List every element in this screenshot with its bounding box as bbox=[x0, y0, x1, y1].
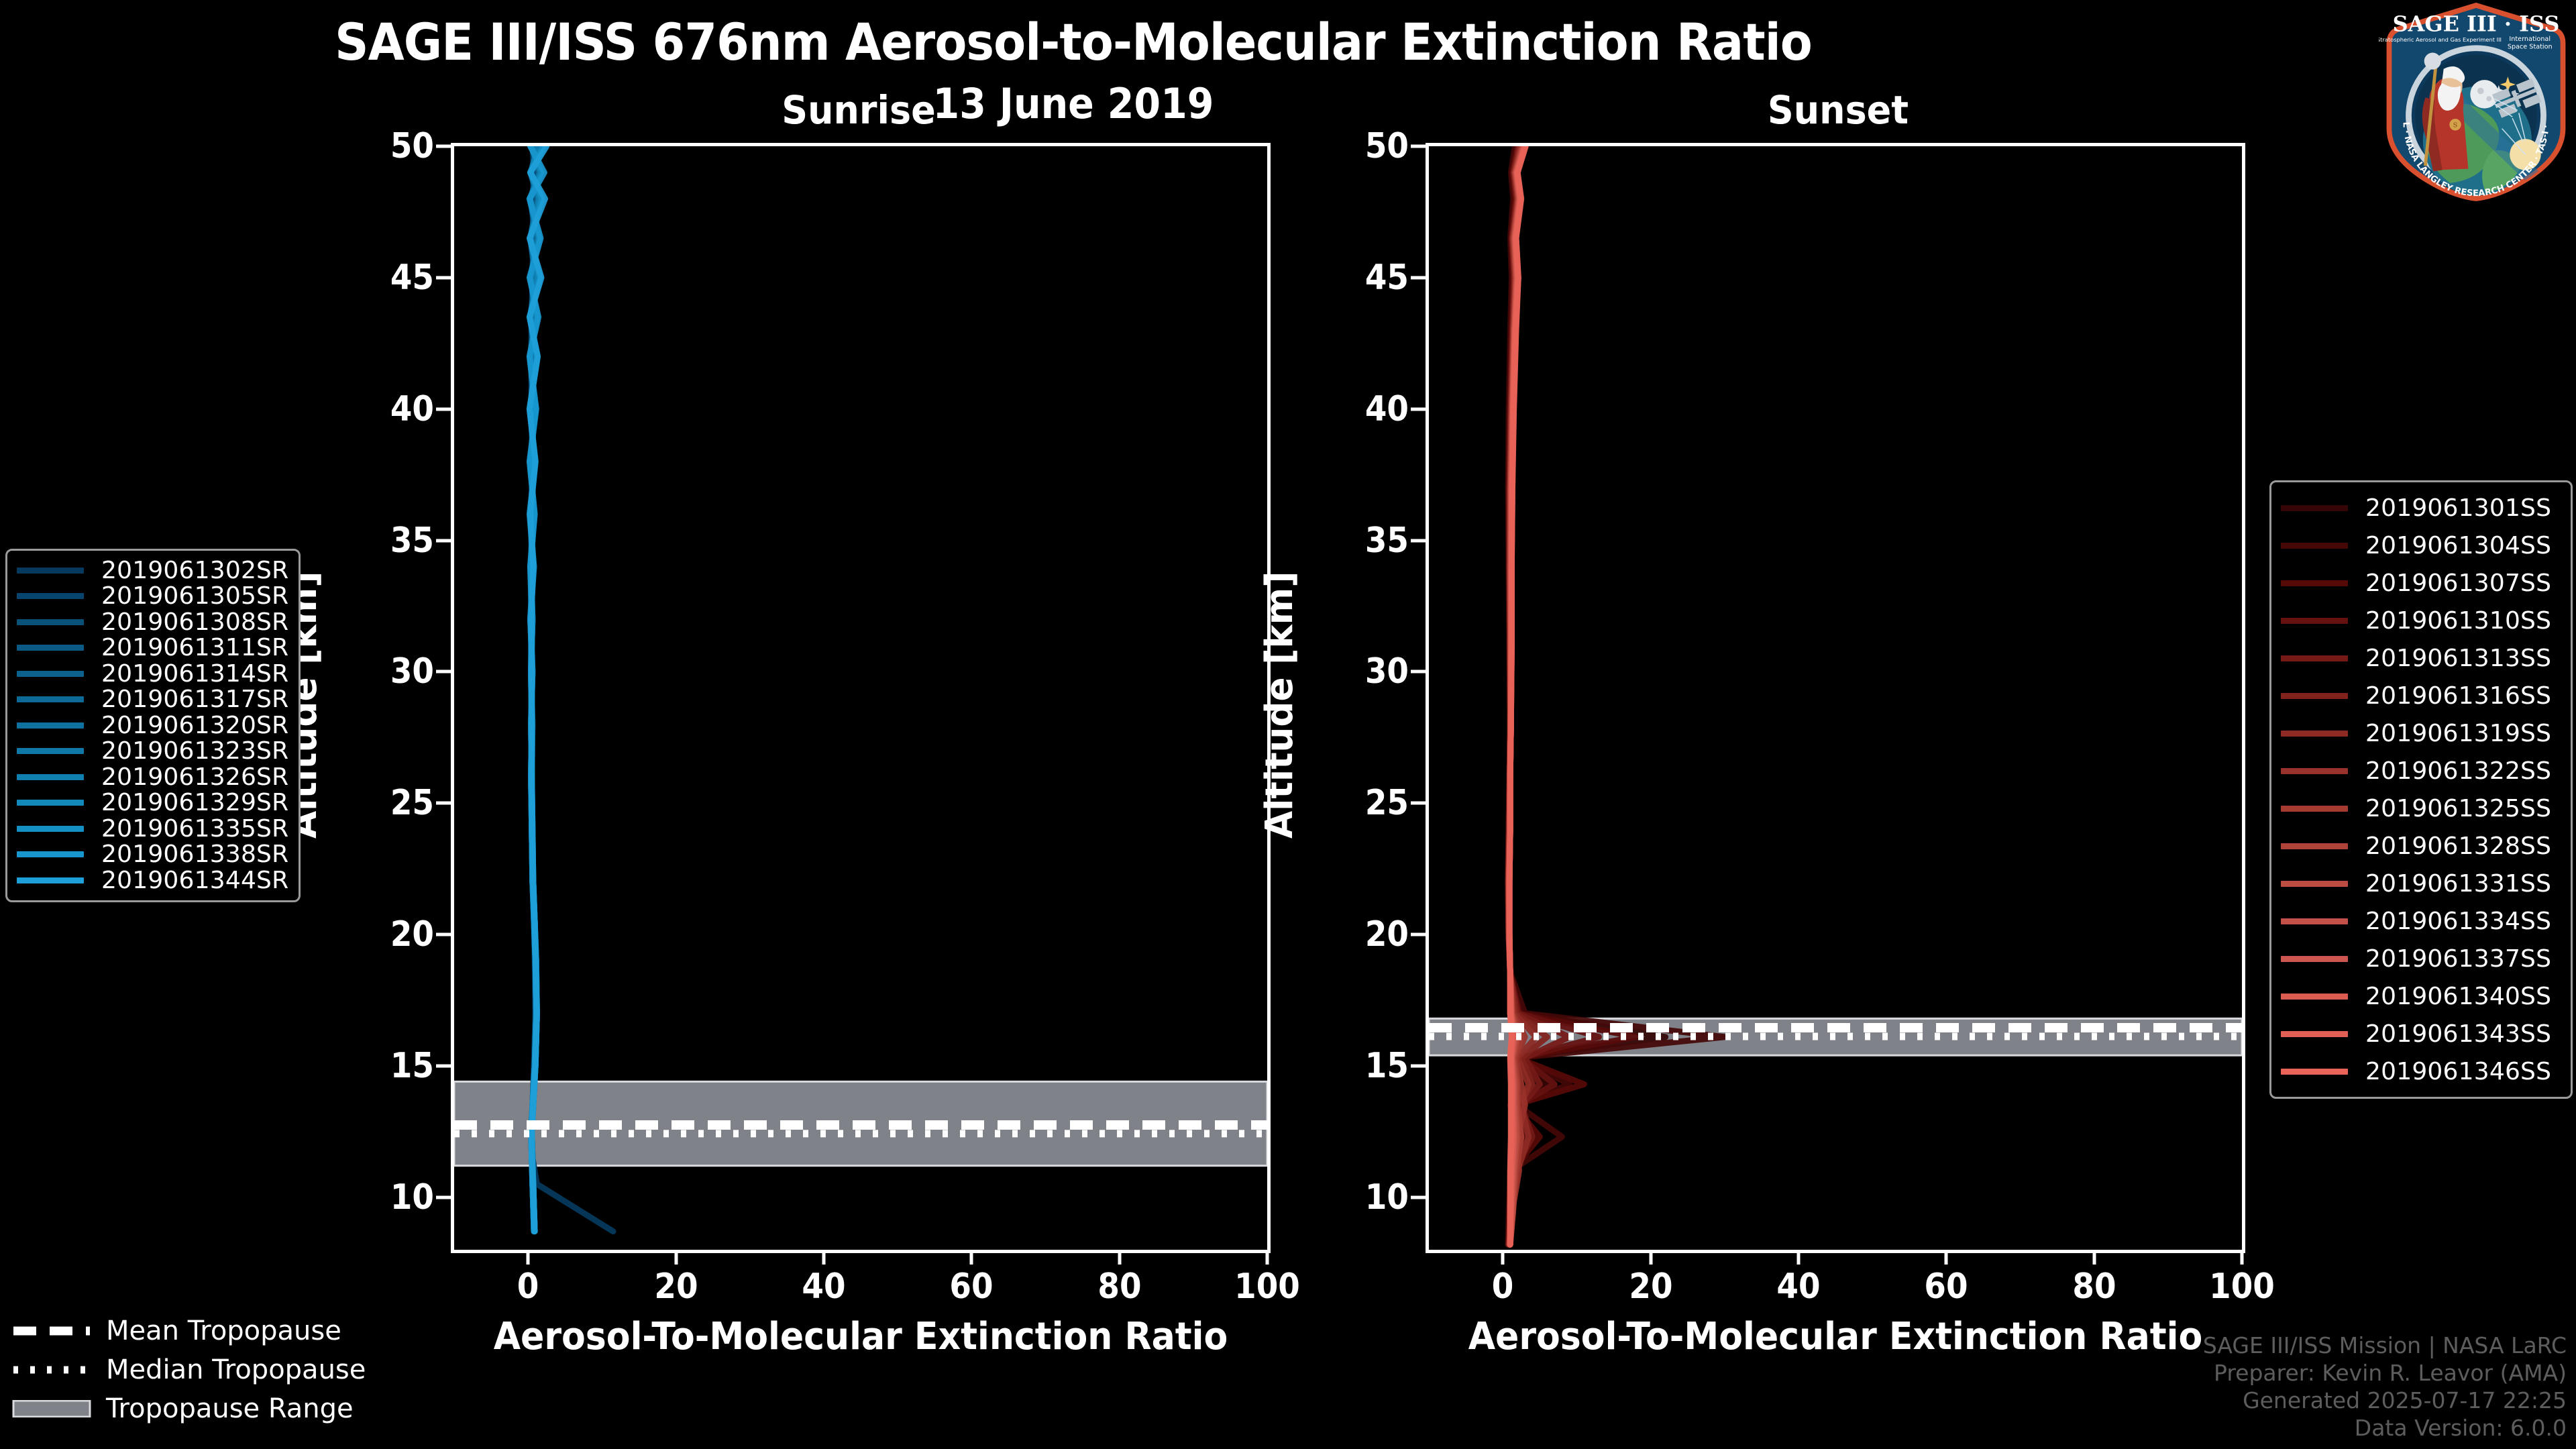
x-axis-label-sunset: Aerosol-To-Molecular Extinction Ratio bbox=[1454, 1315, 2216, 1358]
legend-tropopause: Mean TropopauseMedian TropopauseTropopau… bbox=[12, 1311, 388, 1428]
legend-color-swatch bbox=[17, 671, 84, 677]
y-axis-label-sunset: Altitude [km] bbox=[1258, 571, 1301, 839]
footer-line-version: Data Version: 6.0.0 bbox=[2203, 1415, 2567, 1442]
legend-item-label: 2019061313SS bbox=[2365, 645, 2551, 672]
legend-color-swatch bbox=[2281, 918, 2348, 924]
legend-item-label: 2019061314SR bbox=[101, 660, 288, 688]
tropopause-legend-label: Median Tropopause bbox=[106, 1354, 366, 1385]
legend-item-label: 2019061310SS bbox=[2365, 607, 2551, 635]
tropopause-legend-item: Median Tropopause bbox=[12, 1350, 388, 1389]
legend-sunset-item[interactable]: 2019061316SS bbox=[2281, 677, 2561, 714]
legend-color-swatch bbox=[2281, 768, 2348, 774]
legend-item-label: 2019061305SR bbox=[101, 582, 288, 610]
x-axis-tick-label: 40 bbox=[766, 1267, 881, 1307]
x-axis-tick-mark bbox=[1649, 1250, 1652, 1265]
x-axis-tick-label: 40 bbox=[1741, 1267, 1856, 1307]
y-axis-tick-mark bbox=[436, 145, 451, 148]
y-axis-tick-label: 25 bbox=[343, 783, 434, 823]
legend-color-swatch bbox=[2281, 994, 2348, 1000]
legend-color-swatch bbox=[2281, 1069, 2348, 1075]
legend-color-swatch bbox=[2281, 731, 2348, 737]
legend-color-swatch bbox=[17, 826, 84, 832]
tropopause-legend-label: Mean Tropopause bbox=[106, 1316, 341, 1346]
y-axis-tick-mark bbox=[1411, 407, 1426, 411]
y-axis-tick-label: 15 bbox=[343, 1046, 434, 1086]
y-axis-tick-mark bbox=[1411, 933, 1426, 936]
y-axis-tick-label: 35 bbox=[1318, 521, 1409, 561]
x-axis-tick-mark bbox=[1118, 1250, 1121, 1265]
y-axis-tick-label: 35 bbox=[343, 521, 434, 561]
legend-color-swatch bbox=[2281, 806, 2348, 812]
y-axis-tick-label: 40 bbox=[1318, 389, 1409, 429]
legend-color-swatch bbox=[2281, 1031, 2348, 1037]
x-axis-tick-label: 60 bbox=[914, 1267, 1029, 1307]
logo-title: SAGE III · ISS bbox=[2393, 11, 2560, 37]
legend-item-label: 2019061335SR bbox=[101, 815, 288, 843]
legend-item-label: 2019061344SR bbox=[101, 867, 288, 894]
x-axis-tick-label: 60 bbox=[1889, 1267, 2004, 1307]
legend-sunset-item[interactable]: 2019061340SS bbox=[2281, 977, 2561, 1015]
y-axis-tick-mark bbox=[436, 933, 451, 936]
x-axis-tick-mark bbox=[674, 1250, 678, 1265]
footer-credits: SAGE III/ISS Mission | NASA LaRC Prepare… bbox=[2203, 1332, 2567, 1442]
plot-canvas-sunrise bbox=[454, 146, 1267, 1250]
legend-sunrise-item[interactable]: 2019061326SR bbox=[17, 764, 289, 790]
legend-color-swatch bbox=[17, 593, 84, 599]
legend-sunrise-item[interactable]: 2019061344SR bbox=[17, 867, 289, 894]
legend-color-swatch bbox=[17, 774, 84, 780]
legend-item-label: 2019061328SS bbox=[2365, 833, 2551, 860]
y-axis-tick-label: 15 bbox=[1318, 1046, 1409, 1086]
x-axis-tick-mark bbox=[1266, 1250, 1269, 1265]
legend-sunrise-item[interactable]: 2019061317SR bbox=[17, 687, 289, 713]
x-axis-tick-mark bbox=[2092, 1250, 2096, 1265]
y-axis-tick-mark bbox=[436, 407, 451, 411]
x-axis-tick-label: 0 bbox=[471, 1267, 586, 1307]
x-axis-tick-mark bbox=[2241, 1250, 2244, 1265]
legend-item-label: 2019061338SR bbox=[101, 841, 288, 868]
legend-item-label: 2019061326SR bbox=[101, 763, 288, 791]
y-axis-tick-mark bbox=[1411, 145, 1426, 148]
legend-sunset-item[interactable]: 2019061346SS bbox=[2281, 1053, 2561, 1090]
page-title: SAGE III/ISS 676nm Aerosol-to-Molecular … bbox=[86, 12, 2061, 72]
y-axis-tick-label: 10 bbox=[1318, 1177, 1409, 1218]
y-axis-tick-mark bbox=[436, 539, 451, 542]
legend-color-swatch bbox=[2281, 580, 2348, 586]
legend-color-swatch bbox=[2281, 693, 2348, 699]
legend-item-label: 2019061301SS bbox=[2365, 494, 2551, 522]
y-axis-tick-label: 20 bbox=[1318, 914, 1409, 955]
footer-line-mission: SAGE III/ISS Mission | NASA LaRC bbox=[2203, 1332, 2567, 1360]
legend-item-label: 2019061311SR bbox=[101, 634, 288, 661]
y-axis-tick-label: 50 bbox=[1318, 126, 1409, 166]
legend-item-label: 2019061322SS bbox=[2365, 757, 2551, 785]
legend-sunset-item[interactable]: 2019061319SS bbox=[2281, 714, 2561, 752]
legend-color-swatch bbox=[17, 568, 84, 574]
legend-sunset-item[interactable]: 2019061322SS bbox=[2281, 752, 2561, 790]
x-axis-label-sunrise: Aerosol-To-Molecular Extinction Ratio bbox=[480, 1315, 1242, 1358]
footer-line-generated: Generated 2025-07-17 22:25 bbox=[2203, 1387, 2567, 1415]
legend-color-swatch bbox=[2281, 881, 2348, 887]
y-axis-tick-mark bbox=[1411, 802, 1426, 805]
tropopause-legend-item: Tropopause Range bbox=[12, 1389, 388, 1428]
legend-item-label: 2019061323SR bbox=[101, 737, 288, 765]
x-axis-tick-label: 20 bbox=[1593, 1267, 1708, 1307]
y-axis-tick-label: 25 bbox=[1318, 783, 1409, 823]
y-axis-tick-label: 40 bbox=[343, 389, 434, 429]
legend-item-label: 2019061320SR bbox=[101, 712, 288, 739]
x-axis-tick-mark bbox=[970, 1250, 973, 1265]
x-axis-tick-label: 20 bbox=[619, 1267, 733, 1307]
legend-color-swatch bbox=[2281, 956, 2348, 962]
legend-sunrise-item[interactable]: 2019061311SR bbox=[17, 635, 289, 661]
legend-item-label: 2019061316SS bbox=[2365, 682, 2551, 710]
dotted-line-icon bbox=[12, 1361, 91, 1379]
legend-item-label: 2019061325SS bbox=[2365, 795, 2551, 822]
legend-sunrise-item[interactable]: 2019061320SR bbox=[17, 712, 289, 739]
legend-sunset-item[interactable]: 2019061307SS bbox=[2281, 564, 2561, 602]
footer-line-preparer: Preparer: Kevin R. Leavor (AMA) bbox=[2203, 1360, 2567, 1387]
legend-item-label: 2019061308SR bbox=[101, 608, 288, 636]
legend-sunset-item[interactable]: 2019061304SS bbox=[2281, 527, 2561, 564]
x-axis-tick-mark bbox=[1796, 1250, 1800, 1265]
moon-crater bbox=[2477, 88, 2484, 95]
sage-iii-iss-mission-patch-logo: S SAGE III · ISS Stratospheric Aerosol a… bbox=[2379, 1, 2573, 203]
legend-sunrise[interactable]: 2019061302SR2019061305SR2019061308SR2019… bbox=[5, 549, 301, 902]
legend-color-swatch bbox=[17, 748, 84, 754]
legend-item-label: 2019061337SS bbox=[2365, 945, 2551, 973]
filled-band-icon bbox=[12, 1400, 91, 1417]
legend-item-label: 2019061334SS bbox=[2365, 908, 2551, 935]
y-axis-tick-mark bbox=[1411, 1195, 1426, 1199]
legend-color-swatch bbox=[2281, 655, 2348, 661]
panel-title-sunset: Sunset bbox=[1664, 87, 2013, 133]
legend-item-label: 2019061329SR bbox=[101, 789, 288, 816]
legend-item-label: 2019061302SR bbox=[101, 557, 288, 584]
x-axis-tick-label: 100 bbox=[2185, 1267, 2300, 1307]
plot-panel-sunset bbox=[1426, 143, 2245, 1253]
legend-item-label: 2019061346SS bbox=[2365, 1058, 2551, 1085]
legend-item-label: 2019061319SS bbox=[2365, 720, 2551, 747]
legend-sunrise-item[interactable]: 2019061302SR bbox=[17, 557, 289, 584]
legend-sunset-item[interactable]: 2019061313SS bbox=[2281, 639, 2561, 677]
y-axis-tick-mark bbox=[436, 276, 451, 279]
legend-sunrise-item[interactable]: 2019061335SR bbox=[17, 816, 289, 842]
tropopause-legend-label: Tropopause Range bbox=[106, 1393, 354, 1424]
x-axis-tick-label: 100 bbox=[1210, 1267, 1325, 1307]
y-axis-tick-mark bbox=[436, 1064, 451, 1067]
legend-color-swatch bbox=[17, 645, 84, 651]
y-axis-tick-label: 50 bbox=[343, 126, 434, 166]
legend-color-swatch bbox=[2281, 505, 2348, 511]
legend-color-swatch bbox=[17, 696, 84, 702]
logo-subtitle-left: Stratospheric Aerosol and Gas Experiment… bbox=[2379, 36, 2502, 43]
tropopause-legend-item: Mean Tropopause bbox=[12, 1311, 388, 1350]
y-axis-tick-mark bbox=[1411, 1064, 1426, 1067]
panel-title-sunrise: Sunrise bbox=[684, 87, 1034, 133]
y-axis-tick-mark bbox=[436, 670, 451, 674]
legend-color-swatch bbox=[2281, 543, 2348, 549]
x-axis-tick-mark bbox=[822, 1250, 825, 1265]
legend-sunset-item[interactable]: 2019061337SS bbox=[2281, 940, 2561, 977]
y-axis-tick-label: 45 bbox=[343, 258, 434, 298]
plot-panel-sunrise bbox=[451, 143, 1271, 1253]
x-axis-tick-label: 80 bbox=[1062, 1267, 1177, 1307]
legend-sunset-item[interactable]: 2019061334SS bbox=[2281, 902, 2561, 940]
legend-item-label: 2019061331SS bbox=[2365, 870, 2551, 898]
legend-item-label: 2019061304SS bbox=[2365, 532, 2551, 559]
y-axis-tick-label: 45 bbox=[1318, 258, 1409, 298]
y-axis-tick-label: 30 bbox=[343, 651, 434, 692]
y-axis-tick-label: 10 bbox=[343, 1177, 434, 1218]
legend-color-swatch bbox=[2281, 843, 2348, 849]
x-axis-tick-mark bbox=[1945, 1250, 1948, 1265]
y-axis-tick-label: 30 bbox=[1318, 651, 1409, 692]
legend-color-swatch bbox=[17, 800, 84, 806]
y-axis-tick-mark bbox=[436, 802, 451, 805]
legend-sunset-item[interactable]: 2019061301SS bbox=[2281, 489, 2561, 527]
y-axis-tick-label: 20 bbox=[343, 914, 434, 955]
data-series-line bbox=[531, 146, 613, 1232]
legend-color-swatch bbox=[17, 722, 84, 729]
legend-sunrise-item[interactable]: 2019061338SR bbox=[17, 842, 289, 868]
legend-color-swatch bbox=[17, 619, 84, 625]
x-axis-tick-mark bbox=[527, 1250, 530, 1265]
legend-color-swatch bbox=[17, 851, 84, 857]
legend-sunset-item[interactable]: 2019061328SS bbox=[2281, 827, 2561, 865]
legend-item-label: 2019061340SS bbox=[2365, 983, 2551, 1010]
y-axis-tick-mark bbox=[1411, 670, 1426, 674]
dashed-line-icon bbox=[12, 1322, 91, 1340]
legend-item-label: 2019061307SS bbox=[2365, 570, 2551, 597]
legend-sunrise-item[interactable]: 2019061314SR bbox=[17, 661, 289, 687]
legend-sunrise-item[interactable]: 2019061329SR bbox=[17, 790, 289, 816]
y-axis-tick-mark bbox=[1411, 539, 1426, 542]
x-axis-tick-label: 80 bbox=[2037, 1267, 2151, 1307]
legend-color-swatch bbox=[2281, 618, 2348, 624]
legend-sunset-item[interactable]: 2019061343SS bbox=[2281, 1015, 2561, 1053]
legend-item-label: 2019061343SS bbox=[2365, 1020, 2551, 1048]
x-axis-tick-mark bbox=[1501, 1250, 1505, 1265]
y-axis-tick-mark bbox=[436, 1195, 451, 1199]
moon-crater-2 bbox=[2486, 96, 2491, 101]
legend-sunset-item[interactable]: 2019061331SS bbox=[2281, 865, 2561, 902]
svg-text:S: S bbox=[2453, 122, 2458, 129]
x-axis-tick-label: 0 bbox=[1446, 1267, 1560, 1307]
legend-sunrise-item[interactable]: 2019061323SR bbox=[17, 739, 289, 765]
legend-sunset-item[interactable]: 2019061325SS bbox=[2281, 790, 2561, 827]
legend-item-label: 2019061317SR bbox=[101, 686, 288, 713]
logo-subtitle-right-1: International bbox=[2509, 36, 2551, 43]
legend-sunset[interactable]: 2019061301SS2019061304SS2019061307SS2019… bbox=[2269, 480, 2573, 1099]
plot-canvas-sunset bbox=[1429, 146, 2242, 1250]
legend-sunrise-item[interactable]: 2019061308SR bbox=[17, 609, 289, 635]
legend-sunrise-item[interactable]: 2019061305SR bbox=[17, 584, 289, 610]
legend-color-swatch bbox=[17, 877, 84, 883]
logo-subtitle-right-2: Space Station bbox=[2508, 44, 2553, 51]
legend-sunset-item[interactable]: 2019061310SS bbox=[2281, 602, 2561, 639]
y-axis-tick-mark bbox=[1411, 276, 1426, 279]
